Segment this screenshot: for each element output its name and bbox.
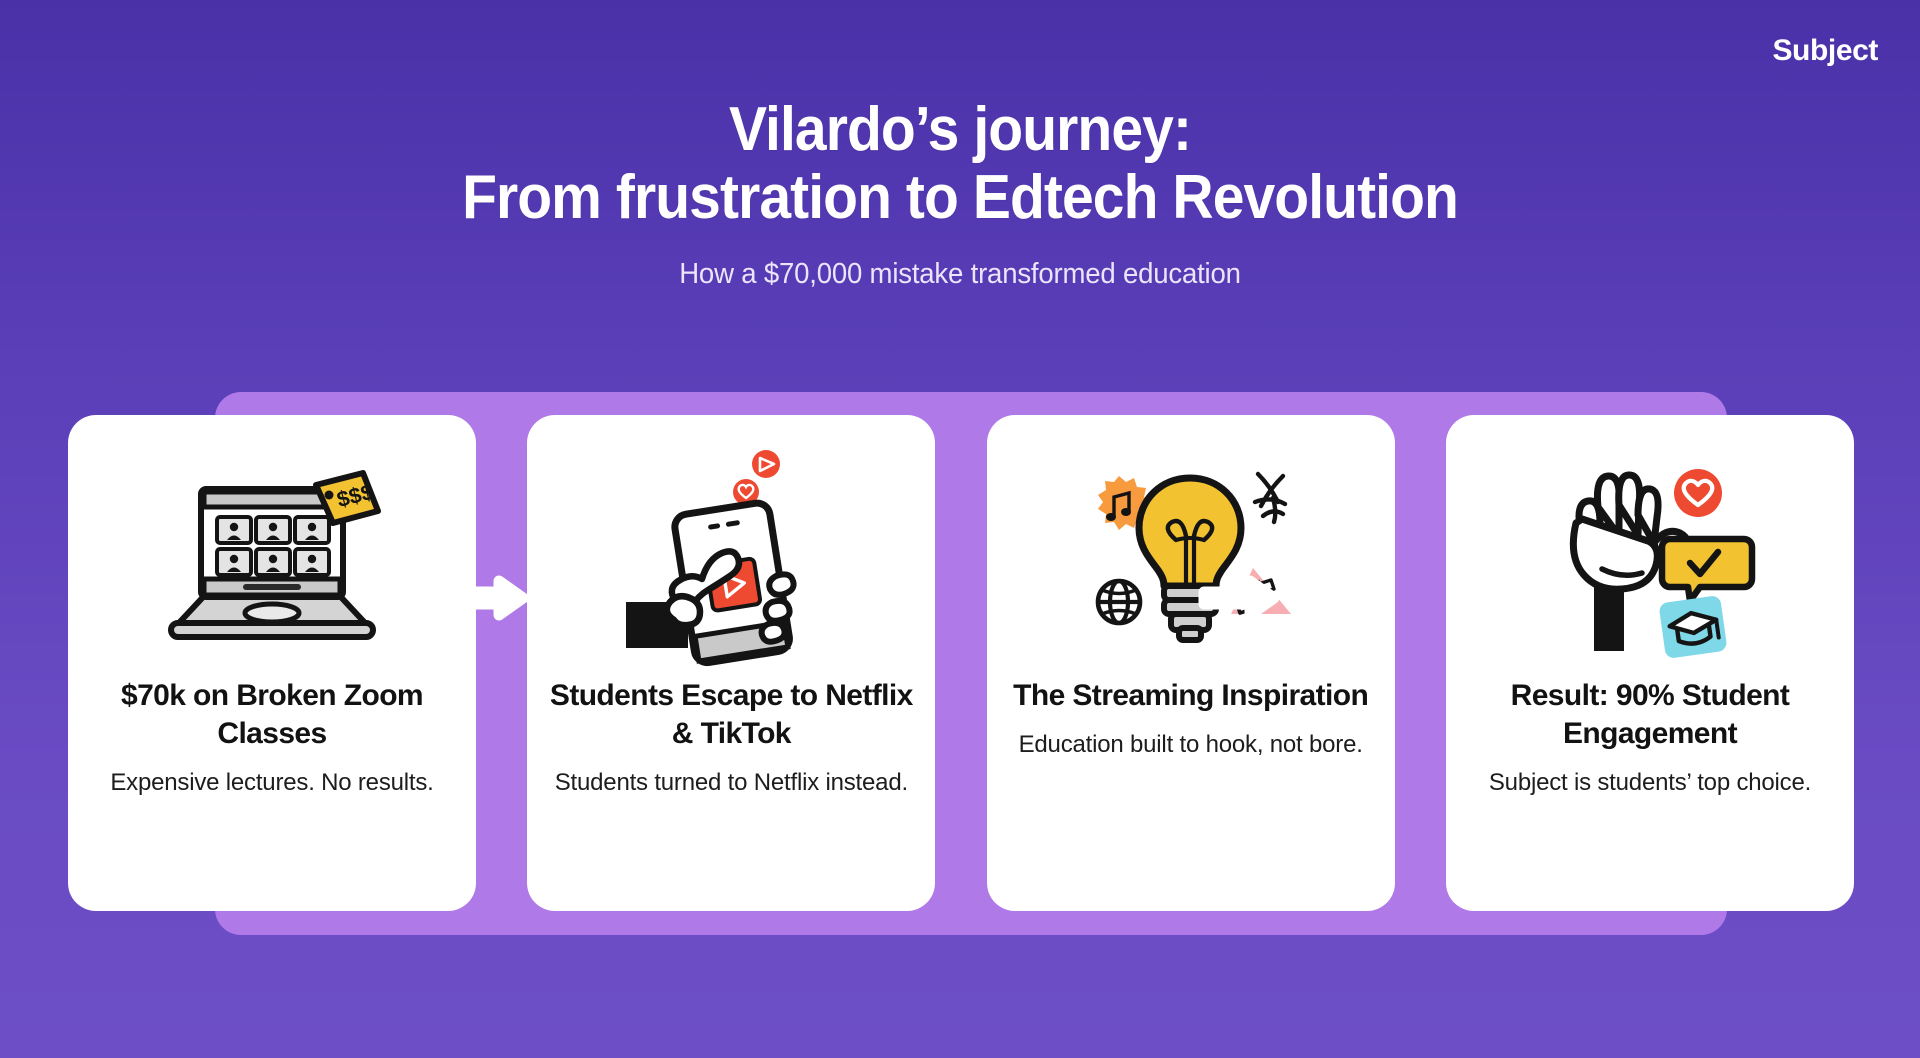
graduation-cap-icon [1658,595,1727,659]
step-3-title: The Streaming Inspiration [1013,677,1368,715]
hand-phone-streaming-hearts-icon [626,452,836,662]
connector-arrow-2 [822,575,904,621]
step-1-title: $70k on Broken Zoom Classes [90,677,454,753]
step-card-1[interactable]: $$$ $70k on Broken Zoom Classes Expensiv… [68,415,476,911]
steps-row: $$$ $70k on Broken Zoom Classes Expensiv… [68,415,1854,911]
lightbulb-idea-media-icon [1077,462,1305,652]
step-2-description: Students turned to Netflix instead. [555,767,908,798]
step-3-illustration [1009,441,1373,673]
step-card-3[interactable]: The Streaming Inspiration Education buil… [987,415,1395,911]
raised-hand-engagement-icon [1540,457,1760,657]
step-2-title: Students Escape to Netflix & TikTok [549,677,913,753]
step-4-description: Subject is students’ top choice. [1489,767,1811,798]
step-3-description: Education built to hook, not bore. [1019,729,1363,760]
arrow-right-icon [1198,575,1280,621]
sparkle-scribble-icon [1255,474,1285,522]
step-1-illustration: $$$ [90,441,454,673]
arrow-right-icon [822,575,904,621]
arrow-right-icon [447,575,529,621]
step-1-description: Expensive lectures. No results. [110,767,433,798]
page-title-line-2: From frustration to Edtech Revolution [77,164,1843,232]
page-header: Vilardo’s journey: From frustration to E… [0,96,1920,291]
step-2-illustration [549,441,913,673]
step-card-4[interactable]: Result: 90% Student Engagement Subject i… [1446,415,1854,911]
step-card-2[interactable]: Students Escape to Netflix & TikTok Stud… [527,415,935,911]
connector-arrow-1 [447,575,529,621]
step-4-illustration [1468,441,1832,673]
page-title-line-1: Vilardo’s journey: [729,95,1191,164]
check-speech-bubble-icon [1662,539,1752,601]
globe-icon [1098,581,1140,623]
step-4-title: Result: 90% Student Engagement [1468,677,1832,753]
brand-logo: Subject [1772,34,1878,68]
heart-reaction-icon [1674,469,1722,517]
page-subtitle: How a $70,000 mistake transformed educat… [48,258,1872,291]
connector-arrow-3 [1198,575,1280,621]
page-title: Vilardo’s journey: From frustration to E… [77,96,1843,232]
laptop-video-call-price-tag-icon: $$$ [161,467,383,647]
